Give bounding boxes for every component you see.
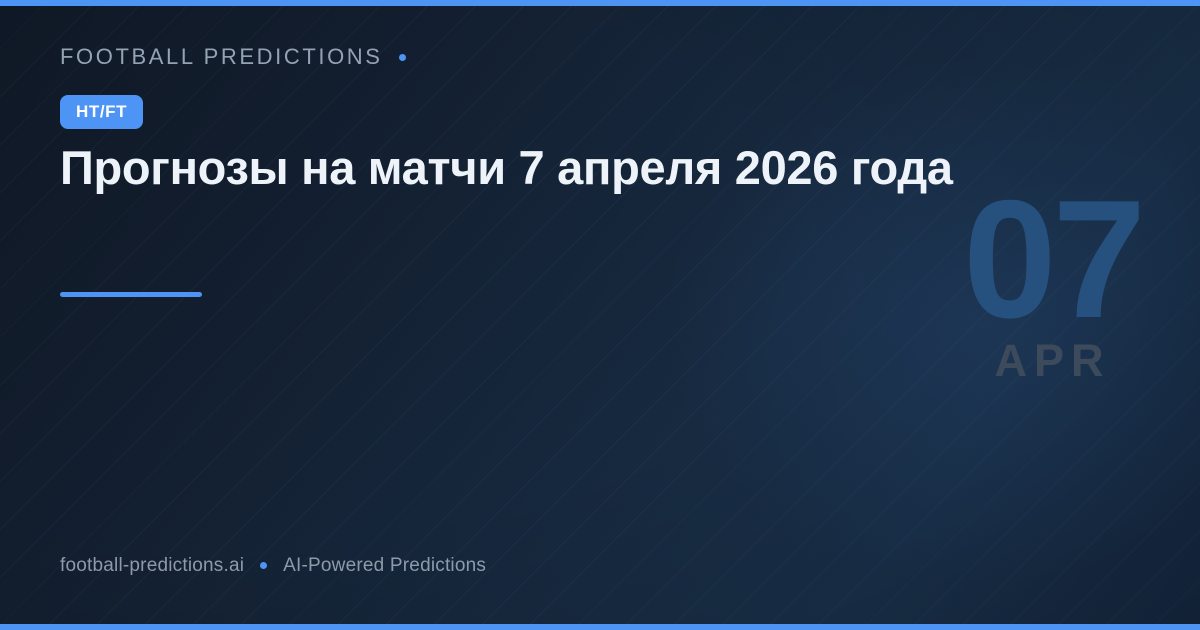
og-image-card: 07 APR FOOTBALL PREDICTIONS HT/FT Прогно…	[0, 0, 1200, 630]
dot-icon	[260, 562, 267, 569]
title-underline-rule	[60, 292, 202, 297]
status-badge: HT/FT	[60, 95, 143, 129]
dot-icon	[399, 54, 406, 61]
footer-tagline: AI-Powered Predictions	[283, 556, 486, 575]
page-title: Прогнозы на матчи 7 апреля 2026 года	[60, 140, 980, 196]
footer-site-label: football-predictions.ai	[60, 556, 244, 575]
content-column: FOOTBALL PREDICTIONS HT/FT Прогнозы на м…	[60, 0, 1000, 630]
top-accent-bar	[0, 0, 1200, 6]
brand-eyebrow-label: FOOTBALL PREDICTIONS	[60, 46, 383, 68]
footer: football-predictions.ai AI-Powered Predi…	[60, 556, 486, 575]
brand-eyebrow: FOOTBALL PREDICTIONS	[60, 46, 406, 68]
bottom-accent-bar	[0, 624, 1200, 630]
